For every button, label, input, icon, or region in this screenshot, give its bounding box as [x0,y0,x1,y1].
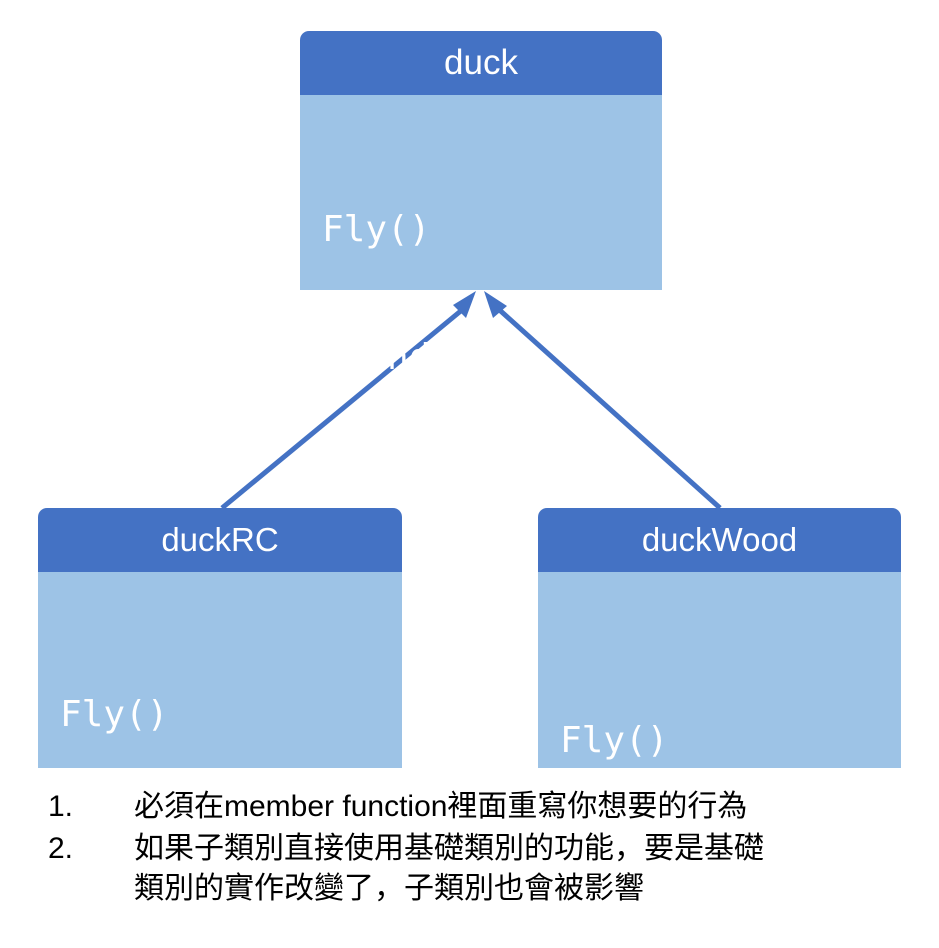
class-name-duckrc: duckRC [161,521,278,558]
method-item: Fly() [322,207,662,253]
class-name-duck: duck [444,43,518,82]
note-line: 必須在member function裡面重寫你想要的行為 [134,787,928,827]
note-line: 如果子類別直接使用基礎類別的功能，要是基礎 [134,829,928,869]
class-name-wrapper-duckwood: duckWood [642,508,797,572]
method-item: Sound() [322,335,662,381]
list-item: 2. 如果子類別直接使用基礎類別的功能，要是基礎 類別的實作改變了，子類別也會被… [48,829,928,909]
diagram-canvas: duck Fly() Sound() duckRC Fly() Sound() … [0,0,939,940]
class-box-duckrc[interactable]: duckRC Fly() Sound() [38,508,402,768]
notes-list: 1. 必須在member function裡面重寫你想要的行為 2. 如果子類別… [48,787,928,911]
class-body-duckwood: Fly() [538,572,901,768]
class-header-duckrc: duckRC [38,508,402,572]
list-marker: 1. [48,787,134,827]
class-name-wrapper-duckrc: duckRC [161,508,278,572]
class-header-duck: duck [300,31,662,95]
note-line: 類別的實作改變了，子類別也會被影響 [134,869,928,909]
class-body-duck: Fly() Sound() [300,95,662,290]
class-body-duckrc: Fly() Sound() [38,572,402,768]
class-name-duckwood: duckWood [642,521,797,558]
class-box-duckwood[interactable]: duckWood Fly() [538,508,901,768]
method-item: Fly() [60,692,402,738]
list-text: 如果子類別直接使用基礎類別的功能，要是基礎 類別的實作改變了，子類別也會被影響 [134,829,928,909]
list-marker: 2. [48,829,134,869]
list-text: 必須在member function裡面重寫你想要的行為 [134,787,928,827]
list-item: 1. 必須在member function裡面重寫你想要的行為 [48,787,928,827]
class-header-duckwood: duckWood [538,508,901,572]
method-item: Fly() [560,718,901,764]
class-box-duck[interactable]: duck Fly() Sound() [300,31,662,290]
